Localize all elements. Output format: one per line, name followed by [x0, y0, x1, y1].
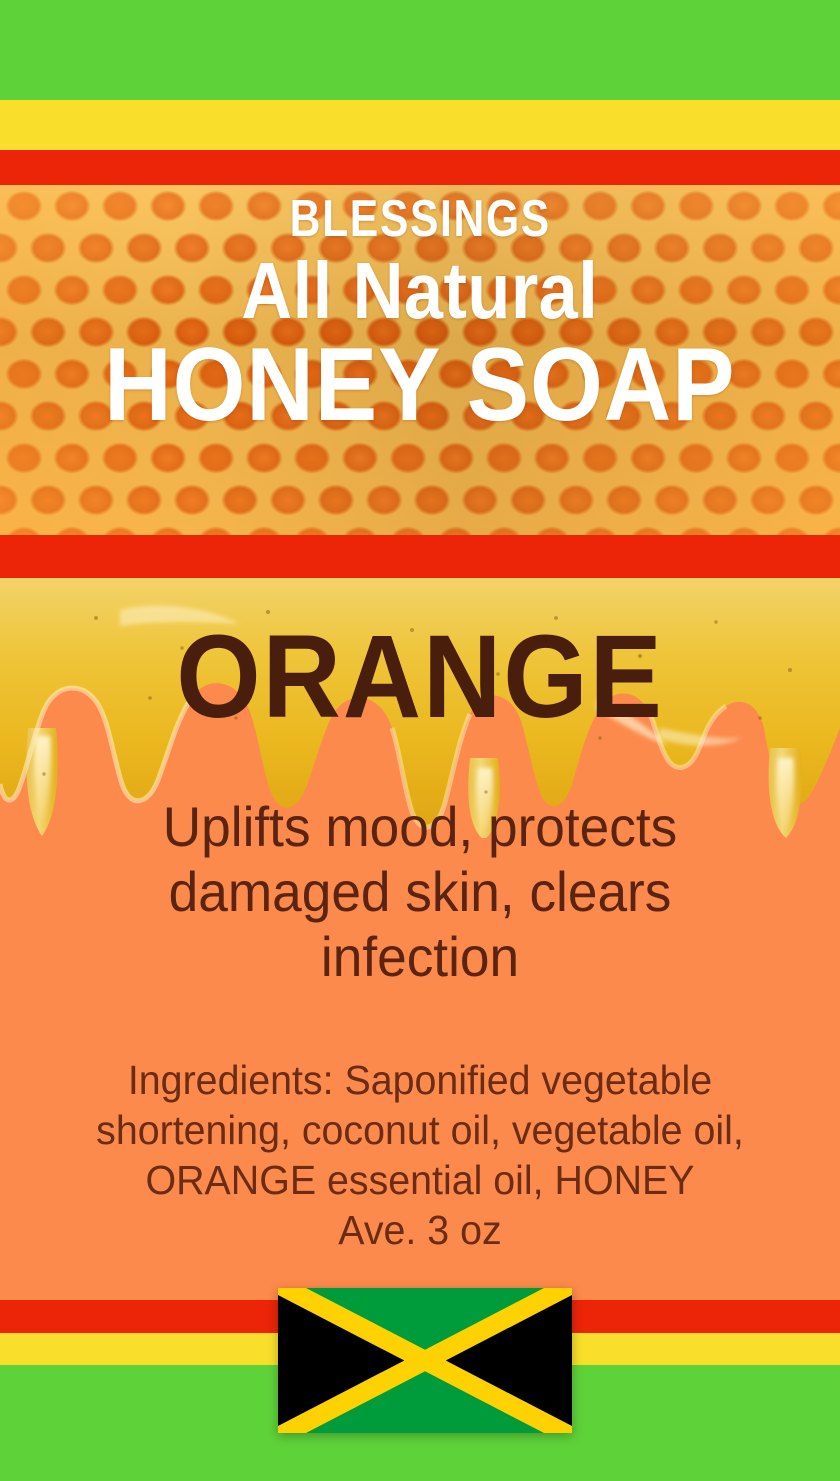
- variant-name: ORANGE: [34, 618, 807, 736]
- jamaica-flag-svg: [278, 1288, 572, 1433]
- brand-name: BLESSINGS: [289, 193, 550, 245]
- benefits-text: Uplifts mood, protects damaged skin, cle…: [107, 795, 734, 990]
- ingredients-text: Ingredients: Saponified vegetable shorte…: [65, 1055, 775, 1255]
- jamaica-flag-icon: [278, 1288, 572, 1433]
- product-label: BLESSINGS All Natural HONEY SOAP: [0, 0, 840, 1481]
- middle-red-stripe: [0, 535, 840, 578]
- top-green-stripe: [0, 0, 840, 100]
- product-subtitle: All Natural: [242, 251, 599, 331]
- product-name: HONEY SOAP: [104, 333, 735, 437]
- top-yellow-stripe: [0, 100, 840, 150]
- ingredients-list: Ingredients: Saponified vegetable shorte…: [96, 1057, 744, 1203]
- header-title-block: BLESSINGS All Natural HONEY SOAP: [0, 185, 840, 535]
- net-weight: Ave. 3 oz: [338, 1207, 501, 1253]
- top-red-stripe: [0, 150, 840, 185]
